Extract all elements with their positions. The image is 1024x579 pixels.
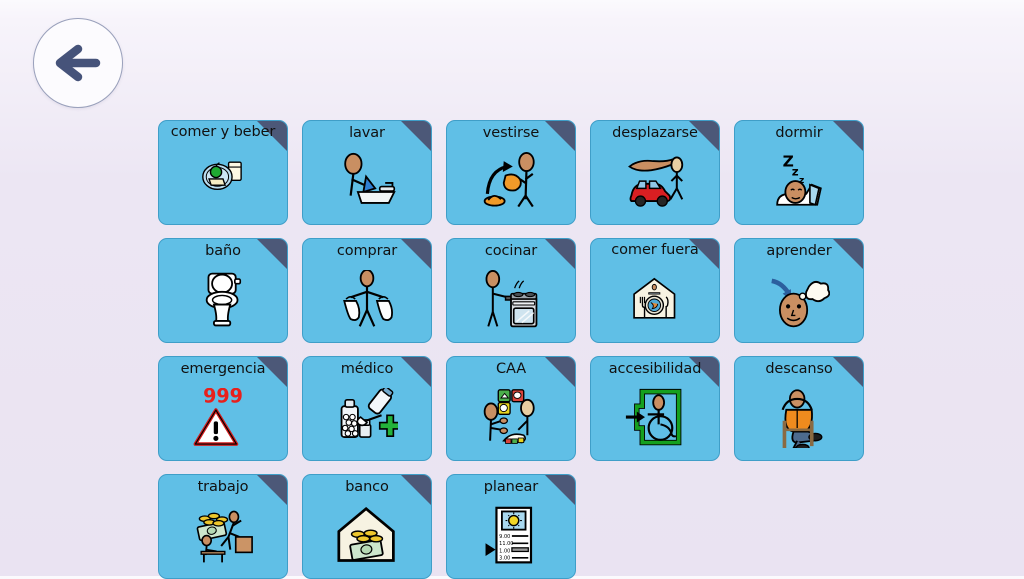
cell-label: emergencia [159,361,287,377]
grid-cell-cocinar[interactable]: cocinar [446,238,576,343]
person-putting-on-clothes-icon [480,152,542,212]
grid-cell-vestirse[interactable]: vestirse [446,120,576,225]
grid-cell-descanso[interactable]: descanso [734,356,864,461]
cell-label: vestirse [447,125,575,141]
cell-pictogram [447,377,575,460]
cell-label: accesibilidad [591,361,719,377]
cell-label: cocinar [447,243,575,259]
cell-label: comprar [303,243,431,259]
cell-label: desplazarse [591,125,719,141]
cell-label: médico [303,361,431,377]
head-arrow-thought-bubble-icon [768,270,830,330]
person-carrying-shopping-bags-icon [336,270,398,330]
grid-cell-desplazarse[interactable]: desplazarse [590,120,720,225]
emergency-number: 999 [203,388,243,408]
cell-pictogram [591,258,719,342]
back-button[interactable] [33,18,123,108]
grid-cell-lavar[interactable]: lavar [302,120,432,225]
two-people-communication-symbols-icon [480,388,542,448]
grid-cell-emergencia[interactable]: emergencia999 [158,356,288,461]
cell-pictogram [447,141,575,224]
arrow-left-icon [52,43,104,83]
cell-pictogram [159,495,287,578]
cell-pictogram [447,495,575,578]
grid-cell-aprender[interactable]: aprender [734,238,864,343]
cell-pictogram [159,140,287,224]
cell-label: banco [303,479,431,495]
grid-cell-banco[interactable]: banco [302,474,432,579]
cell-pictogram [303,495,431,578]
wheelchair-access-icon [624,388,686,448]
cell-pictogram [591,141,719,224]
cell-pictogram: 999 [159,377,287,460]
cell-label: CAA [447,361,575,377]
person-cooking-at-stove-icon [480,270,542,330]
warning-triangle-icon: 999 [192,388,254,448]
grid-cell-comprar[interactable]: comprar [302,238,432,343]
grid-cell-comer-y-beber[interactable]: comer y beber [158,120,288,225]
cell-pictogram [303,377,431,460]
cell-label: trabajo [159,479,287,495]
cell-pictogram [303,259,431,342]
grid-cell-trabajo[interactable]: trabajo [158,474,288,579]
cell-label: comer fuera [591,242,719,258]
grid-cell-planear[interactable]: planear [446,474,576,579]
grid-cell-caa[interactable]: CAA [446,356,576,461]
pictogram-grid: comer y beberlavarvestirsedesplazarsedor… [158,120,884,579]
toilet-icon [192,270,254,330]
schedule-timetable-icon [480,506,542,566]
cell-label: descanso [735,361,863,377]
plate-apple-sandwich-glass-icon [197,158,249,204]
cell-label: dormir [735,125,863,141]
cell-pictogram [735,259,863,342]
person-washing-at-sink-icon [336,152,398,212]
cell-pictogram [159,259,287,342]
sleeping-person-zzz-icon [768,152,830,212]
grid-cell-medico[interactable]: médico [302,356,432,461]
person-relaxing-in-chair-icon [768,388,830,448]
grid-cell-accesibilidad[interactable]: accesibilidad [590,356,720,461]
grid-cell-bano[interactable]: baño [158,238,288,343]
house-with-money-icon [336,506,398,566]
cell-pictogram [303,141,431,224]
cell-pictogram [735,377,863,460]
cell-label: aprender [735,243,863,259]
grid-cell-comer-fuera[interactable]: comer fuera [590,238,720,343]
cell-label: comer y beber [159,124,287,140]
hand-pointing-car-walker-icon [624,152,686,212]
cell-label: baño [159,243,287,259]
cell-label: lavar [303,125,431,141]
restaurant-house-plate-icon [629,276,681,322]
cell-pictogram [447,259,575,342]
money-worker-boxes-icon [192,506,254,566]
cell-label: planear [447,479,575,495]
medicine-bottles-spoon-cross-icon [336,388,398,448]
cell-pictogram [591,377,719,460]
grid-cell-dormir[interactable]: dormir [734,120,864,225]
cell-pictogram [735,141,863,224]
